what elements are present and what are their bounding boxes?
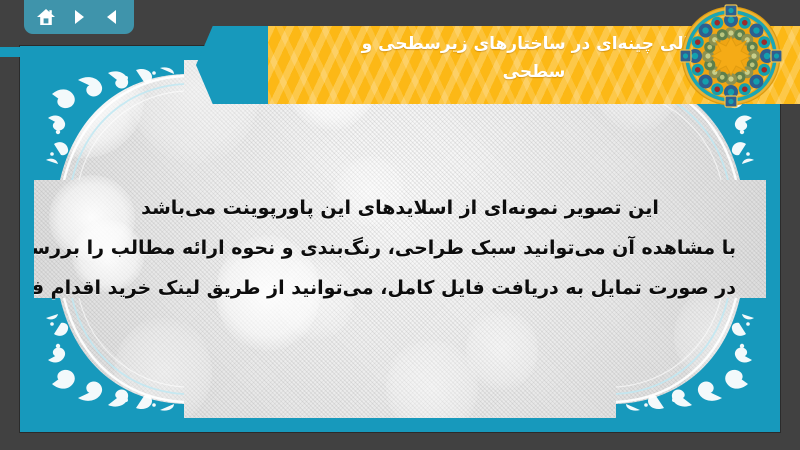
bokeh-circle: [114, 318, 212, 418]
home-button[interactable]: [33, 4, 59, 30]
bokeh-circle: [466, 310, 538, 390]
ornate-corner-icon: [616, 298, 766, 418]
home-icon: [36, 7, 56, 27]
bokeh-circle: [386, 340, 478, 418]
triangle-right-icon: [70, 8, 88, 26]
bokeh-circle: [594, 60, 680, 132]
next-slide-button[interactable]: [66, 4, 92, 30]
body-line: با مشاهده آن می‌توانید سبک طراحی، رنگ‌بن…: [64, 228, 736, 268]
previous-slide-button[interactable]: [99, 4, 125, 30]
slide-frame: این تصویر نمونه‌ای از اسلایدهای این پاور…: [20, 46, 780, 432]
triangle-left-icon: [103, 8, 121, 26]
slide-navigation-bar[interactable]: [24, 0, 134, 34]
title-line: بررسی زیست‌چینه‌نگاری، محیط رسوبی و: [361, 26, 707, 30]
bokeh-circle: [286, 60, 378, 130]
ornate-corner-icon: [616, 60, 766, 180]
slide-body-text: این تصویر نمونه‌ای از اسلایدهای این پاور…: [64, 188, 736, 308]
bokeh-circle: [34, 60, 144, 158]
slide-stage: این تصویر نمونه‌ای از اسلایدهای این پاور…: [0, 0, 800, 450]
body-line: این تصویر نمونه‌ای از اسلایدهای این پاور…: [64, 188, 736, 228]
body-line: در صورت تمایل به دریافت فایل کامل، می‌تو…: [64, 268, 736, 308]
ornate-corner-icon: [34, 60, 184, 180]
slide-canvas: این تصویر نمونه‌ای از اسلایدهای این پاور…: [34, 60, 766, 418]
bokeh-circle: [130, 60, 260, 164]
ornate-corner-icon: [34, 298, 184, 418]
